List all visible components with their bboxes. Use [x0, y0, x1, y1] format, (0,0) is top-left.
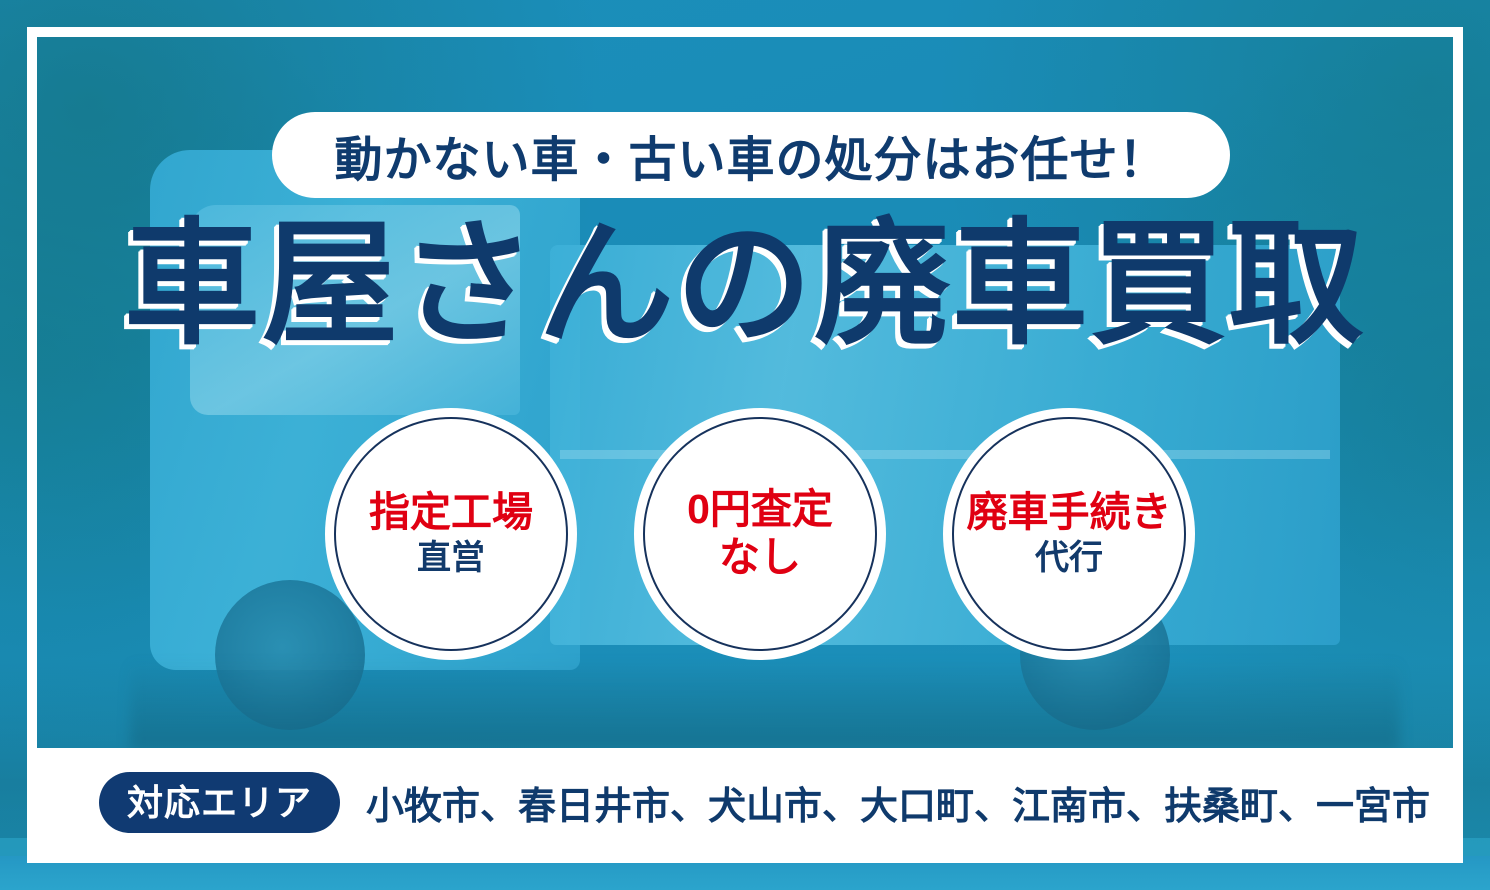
- ad-banner: 動かない車・古い車の処分はお任せ！ 車屋さんの廃車買取 指定工場 直営 0円査定…: [0, 0, 1490, 890]
- feature-1-sub-text: 直営: [417, 539, 485, 578]
- feature-3-sub-text: 代行: [1035, 539, 1103, 578]
- feature-circle-2: 0円査定 なし: [634, 408, 886, 660]
- service-area-cities: 小牧市、春日井市、犬山市、大口町、江南市、扶桑町、一宮市: [366, 775, 1430, 830]
- feature-2-main-text: 0円査定: [687, 487, 833, 531]
- headline-title: 車屋さんの廃車買取: [0, 216, 1490, 352]
- tagline-pill: 動かない車・古い車の処分はお任せ！: [272, 112, 1230, 198]
- feature-3-main-text: 廃車手続き: [967, 490, 1172, 534]
- tagline-text: 動かない車・古い車の処分はお任せ！: [334, 120, 1167, 190]
- feature-circle-3: 廃車手続き 代行: [943, 408, 1195, 660]
- feature-circle-1: 指定工場 直営: [325, 408, 577, 660]
- feature-2-sub-text: なし: [719, 534, 801, 581]
- truck-shadow: [130, 660, 1400, 750]
- feature-circle-group: 指定工場 直営 0円査定 なし 廃車手続き 代行: [325, 408, 1195, 660]
- ground-strip: [0, 856, 1490, 890]
- service-area-badge: 対応エリア: [99, 772, 340, 834]
- feature-1-main-text: 指定工場: [369, 490, 533, 534]
- service-area-band: 対応エリア 小牧市、春日井市、犬山市、大口町、江南市、扶桑町、一宮市: [37, 748, 1457, 857]
